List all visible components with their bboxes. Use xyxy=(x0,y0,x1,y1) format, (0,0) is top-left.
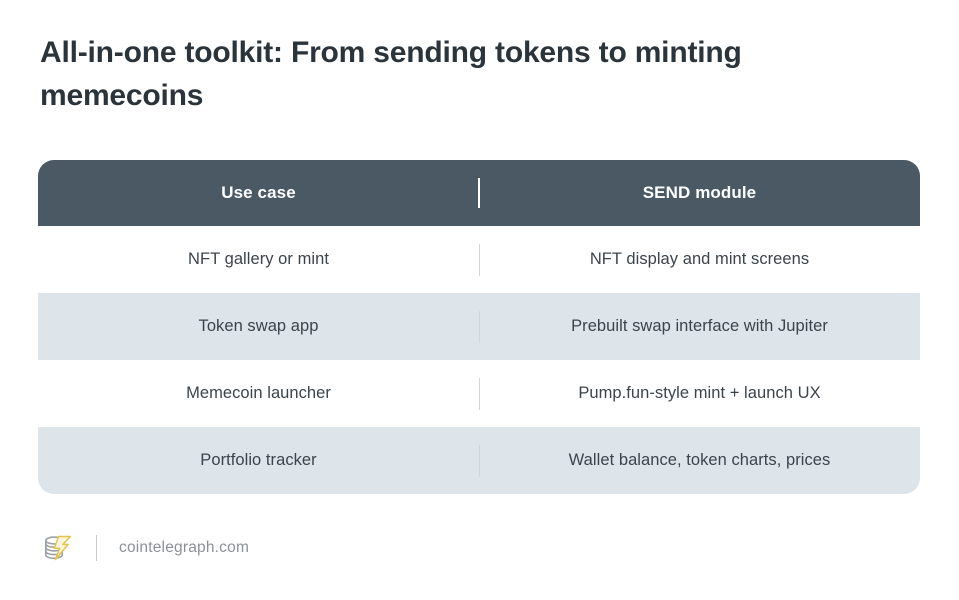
cell-use-case: NFT gallery or mint xyxy=(38,226,479,293)
cell-use-case: Token swap app xyxy=(38,293,479,360)
cointelegraph-logo xyxy=(40,531,74,565)
cell-send-module: NFT display and mint screens xyxy=(479,226,920,293)
table-header-row: Use case SEND module xyxy=(38,160,920,226)
table-body: NFT gallery or mint NFT display and mint… xyxy=(38,226,920,494)
page-title: All-in-one toolkit: From sending tokens … xyxy=(40,32,870,117)
cell-use-case: Memecoin launcher xyxy=(38,360,479,427)
table-row: Token swap app Prebuilt swap interface w… xyxy=(38,293,920,360)
table-row: Memecoin launcher Pump.fun-style mint + … xyxy=(38,360,920,427)
infographic-page: All-in-one toolkit: From sending tokens … xyxy=(0,0,959,600)
title-block: All-in-one toolkit: From sending tokens … xyxy=(40,32,870,117)
footer-divider xyxy=(96,535,97,561)
cell-use-case: Portfolio tracker xyxy=(38,427,479,494)
table-head: Use case SEND module xyxy=(38,160,920,226)
cell-send-module: Pump.fun-style mint + launch UX xyxy=(479,360,920,427)
footer: cointelegraph.com xyxy=(40,528,249,568)
column-header-send-module: SEND module xyxy=(479,160,920,226)
cell-send-module: Prebuilt swap interface with Jupiter xyxy=(479,293,920,360)
table-row: NFT gallery or mint NFT display and mint… xyxy=(38,226,920,293)
table-row: Portfolio tracker Wallet balance, token … xyxy=(38,427,920,494)
cointelegraph-coins-bolt-icon xyxy=(40,531,74,565)
cell-send-module: Wallet balance, token charts, prices xyxy=(479,427,920,494)
footer-site-label: cointelegraph.com xyxy=(119,539,249,557)
comparison-table: Use case SEND module NFT gallery or mint… xyxy=(38,160,920,494)
column-header-use-case: Use case xyxy=(38,160,479,226)
table: Use case SEND module NFT gallery or mint… xyxy=(38,160,920,494)
